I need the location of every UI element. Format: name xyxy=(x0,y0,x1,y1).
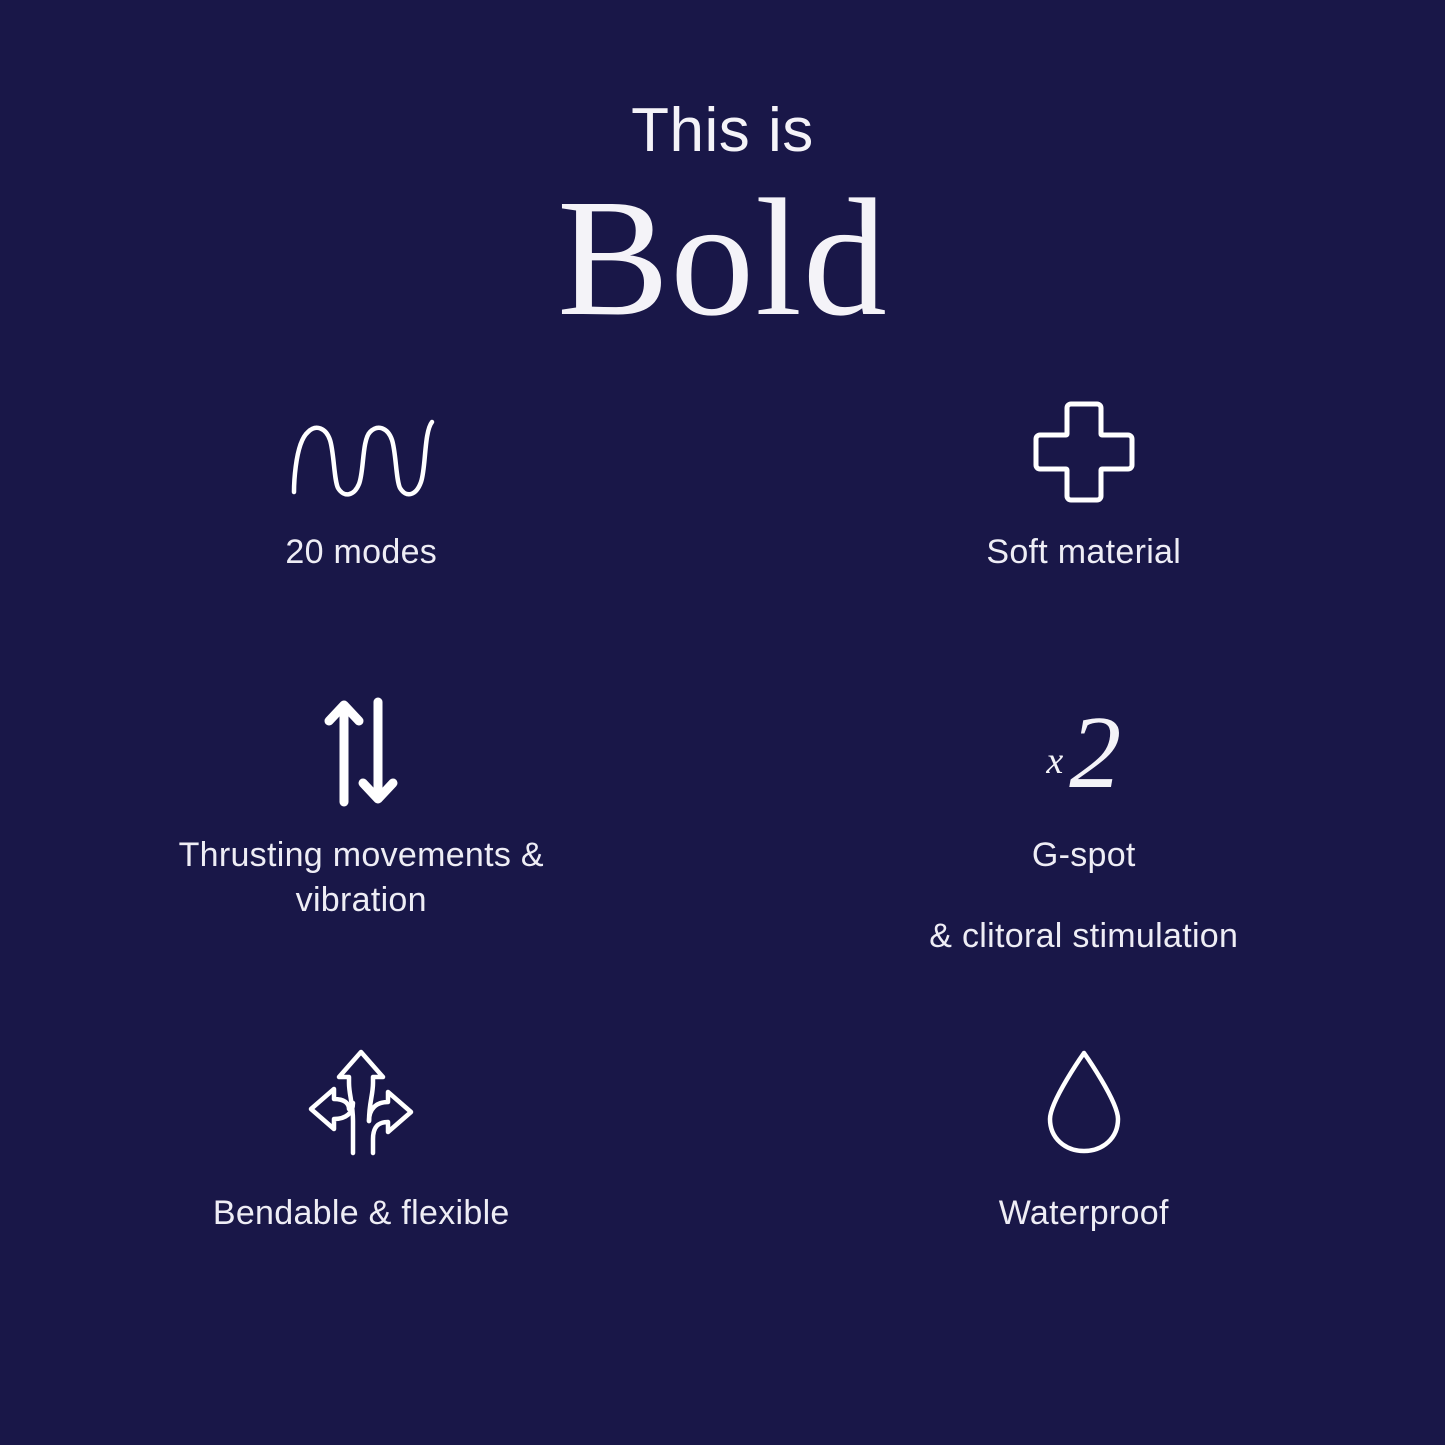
feature-item-soft-material: Soft material xyxy=(723,390,1445,685)
feature-item-bendable: Bendable & flexible xyxy=(0,1035,723,1236)
title-line-2: Bold xyxy=(0,168,1445,349)
three-way-arrow-icon xyxy=(306,1035,416,1155)
feature-label: G-spot xyxy=(1032,833,1136,878)
water-drop-icon xyxy=(1044,1035,1124,1155)
times-symbol: x xyxy=(1046,740,1063,782)
wave-icon xyxy=(286,390,436,500)
title-line-1: This is xyxy=(0,100,1445,162)
times-two-icon: x2 xyxy=(1046,685,1121,805)
feature-label: Soft material xyxy=(986,530,1181,575)
feature-sublabel: & clitoral stimulation xyxy=(929,914,1238,959)
up-down-arrows-icon xyxy=(323,685,399,805)
feature-label: Bendable & flexible xyxy=(213,1191,510,1236)
feature-item-g-spot: x2 G-spot & clitoral stimulation xyxy=(723,685,1445,1035)
number-two: 2 xyxy=(1069,695,1121,810)
feature-item-waterproof: Waterproof xyxy=(723,1035,1445,1236)
feature-item-20-modes: 20 modes xyxy=(0,390,723,685)
cross-icon xyxy=(1036,390,1132,500)
feature-grid: 20 modes Soft material Thrusting move xyxy=(0,390,1445,1236)
page-title: This is Bold xyxy=(0,100,1445,349)
feature-label: Thrusting movements & vibration xyxy=(151,833,571,923)
feature-item-thrusting: Thrusting movements & vibration xyxy=(0,685,723,1035)
feature-poster: This is Bold 20 modes Soft material xyxy=(0,0,1445,1445)
feature-label: 20 modes xyxy=(285,530,437,575)
feature-label: Waterproof xyxy=(999,1191,1169,1236)
